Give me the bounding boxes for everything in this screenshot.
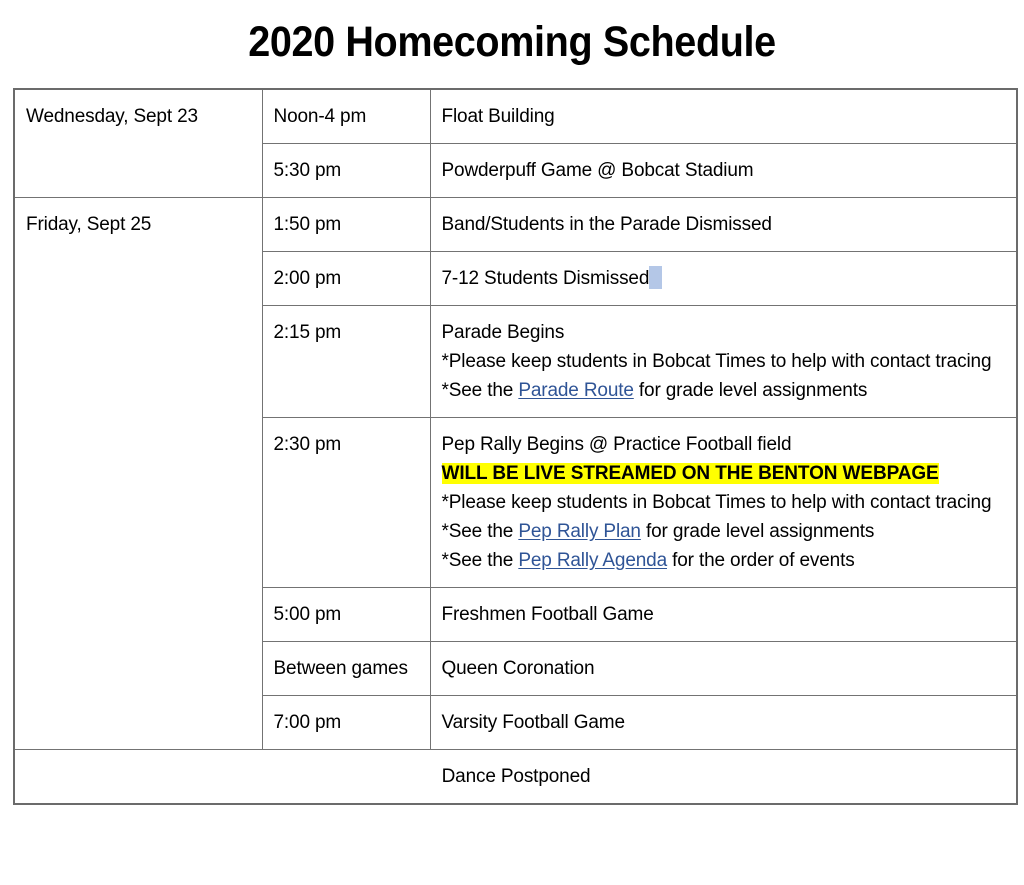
- time-label: 2:30 pm: [274, 434, 342, 455]
- time-cell: 2:15 pm: [262, 306, 430, 418]
- event-line: WILL BE LIVE STREAMED ON THE BENTON WEBP…: [442, 459, 1007, 488]
- event-text: for grade level assignments: [634, 380, 867, 401]
- time-cell: Noon-4 pm: [262, 89, 430, 144]
- event-text: for the order of events: [667, 550, 855, 571]
- event-line: Band/Students in the Parade Dismissed: [442, 210, 1007, 239]
- table-row: Wednesday, Sept 23Noon-4 pmFloat Buildin…: [14, 89, 1017, 144]
- event-text: *Please keep students in Bobcat Times to…: [442, 351, 992, 372]
- highlighted-text: WILL BE LIVE STREAMED ON THE BENTON WEBP…: [442, 463, 939, 484]
- event-cell: Pep Rally Begins @ Practice Football fie…: [430, 418, 1017, 588]
- document-link[interactable]: Parade Route: [518, 380, 633, 401]
- event-line: *Please keep students in Bobcat Times to…: [442, 488, 1007, 517]
- event-text: 7-12 Students Dismissed: [442, 268, 650, 289]
- event-cell: 7-12 Students Dismissed: [430, 252, 1017, 306]
- event-text: Varsity Football Game: [442, 712, 625, 733]
- event-line: *See the Parade Route for grade level as…: [442, 376, 1007, 405]
- time-label: 2:00 pm: [274, 268, 342, 289]
- time-cell: 5:30 pm: [262, 144, 430, 198]
- text-selection-highlight[interactable]: [649, 266, 662, 289]
- day-label: Friday, Sept 25: [26, 214, 151, 235]
- event-line: Freshmen Football Game: [442, 600, 1007, 629]
- event-text: Parade Begins: [442, 322, 565, 343]
- event-line: Float Building: [442, 102, 1007, 131]
- homecoming-schedule-table: Wednesday, Sept 23Noon-4 pmFloat Buildin…: [13, 88, 1018, 805]
- event-line: *Please keep students in Bobcat Times to…: [442, 347, 1007, 376]
- time-cell: Between games: [262, 642, 430, 696]
- event-cell: Parade Begins*Please keep students in Bo…: [430, 306, 1017, 418]
- schedule-page: 2020 Homecoming Schedule Wednesday, Sept…: [0, 0, 1024, 885]
- event-text: Band/Students in the Parade Dismissed: [442, 214, 772, 235]
- time-cell: 7:00 pm: [262, 696, 430, 750]
- event-cell: Queen Coronation: [430, 642, 1017, 696]
- document-link[interactable]: Pep Rally Plan: [518, 521, 641, 542]
- event-text: for grade level assignments: [641, 521, 874, 542]
- event-text: Powderpuff Game @ Bobcat Stadium: [442, 160, 754, 181]
- time-label: 7:00 pm: [274, 712, 342, 733]
- page-title: 2020 Homecoming Schedule: [41, 16, 983, 68]
- event-cell: Powderpuff Game @ Bobcat Stadium: [430, 144, 1017, 198]
- event-text: *See the: [442, 521, 519, 542]
- event-line: Varsity Football Game: [442, 708, 1007, 737]
- time-label: 5:30 pm: [274, 160, 342, 181]
- event-line: *See the Pep Rally Agenda for the order …: [442, 546, 1007, 575]
- event-cell: Float Building: [430, 89, 1017, 144]
- event-cell: Band/Students in the Parade Dismissed: [430, 198, 1017, 252]
- event-text: Freshmen Football Game: [442, 604, 654, 625]
- event-text: *Please keep students in Bobcat Times to…: [442, 492, 992, 513]
- event-line: Powderpuff Game @ Bobcat Stadium: [442, 156, 1007, 185]
- event-line: Queen Coronation: [442, 654, 1007, 683]
- document-link[interactable]: Pep Rally Agenda: [518, 550, 667, 571]
- event-line: Parade Begins: [442, 318, 1007, 347]
- event-text: Queen Coronation: [442, 658, 595, 679]
- event-cell: Freshmen Football Game: [430, 588, 1017, 642]
- time-label: Between games: [274, 658, 408, 679]
- time-cell: 5:00 pm: [262, 588, 430, 642]
- table-row: Friday, Sept 251:50 pmBand/Students in t…: [14, 198, 1017, 252]
- footer-note: Dance Postponed: [442, 766, 591, 787]
- event-line: 7-12 Students Dismissed: [442, 264, 1007, 293]
- event-line: *See the Pep Rally Plan for grade level …: [442, 517, 1007, 546]
- time-label: 5:00 pm: [274, 604, 342, 625]
- time-cell: 1:50 pm: [262, 198, 430, 252]
- event-line: Pep Rally Begins @ Practice Football fie…: [442, 430, 1007, 459]
- time-label: 1:50 pm: [274, 214, 342, 235]
- footer-note-cell: Dance Postponed: [14, 750, 1017, 805]
- time-cell: 2:30 pm: [262, 418, 430, 588]
- day-label: Wednesday, Sept 23: [26, 106, 198, 127]
- footer-row: Dance Postponed: [14, 750, 1017, 805]
- event-cell: Varsity Football Game: [430, 696, 1017, 750]
- day-label-cell: Friday, Sept 25: [14, 198, 262, 750]
- schedule-table-body: Wednesday, Sept 23Noon-4 pmFloat Buildin…: [14, 89, 1017, 804]
- time-label: Noon-4 pm: [274, 106, 367, 127]
- event-text: Pep Rally Begins @ Practice Football fie…: [442, 434, 792, 455]
- event-text: *See the: [442, 380, 519, 401]
- day-label-cell: Wednesday, Sept 23: [14, 89, 262, 198]
- time-cell: 2:00 pm: [262, 252, 430, 306]
- event-text: Float Building: [442, 106, 555, 127]
- time-label: 2:15 pm: [274, 322, 342, 343]
- event-text: *See the: [442, 550, 519, 571]
